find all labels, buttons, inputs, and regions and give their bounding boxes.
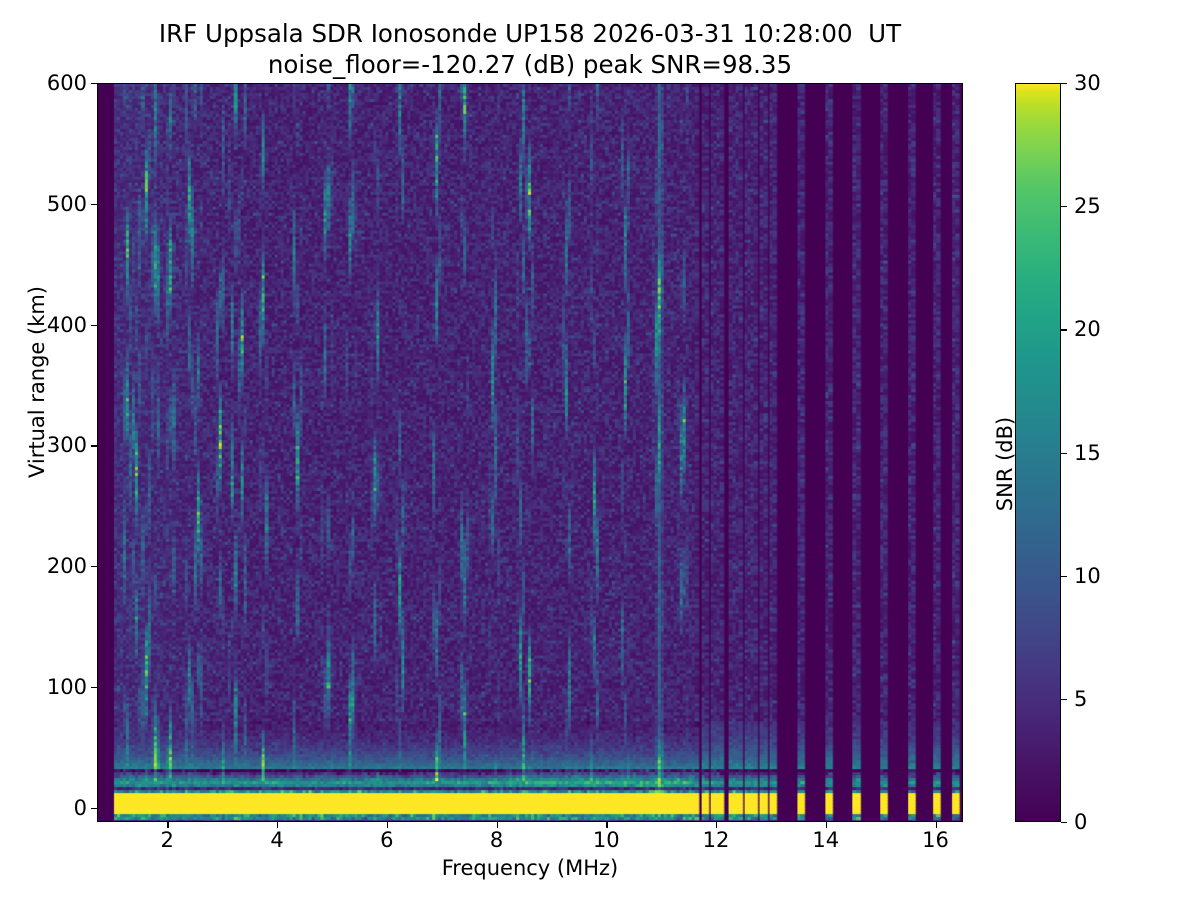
y-tick-mark bbox=[91, 687, 97, 688]
y-tick-label: 600 bbox=[17, 71, 87, 95]
colorbar-tick-label: 5 bbox=[1074, 687, 1087, 711]
y-tick-mark bbox=[91, 566, 97, 567]
y-tick-label: 400 bbox=[17, 313, 87, 337]
colorbar-tick-label: 15 bbox=[1074, 441, 1101, 465]
colorbar-tick-label: 0 bbox=[1074, 810, 1087, 834]
x-tick-label: 10 bbox=[576, 828, 636, 852]
colorbar-label: SNR (dB) bbox=[993, 304, 1017, 624]
colorbar-tick-mark bbox=[1061, 453, 1067, 454]
ionogram-axes[interactable] bbox=[97, 83, 963, 822]
y-tick-mark bbox=[91, 445, 97, 446]
y-tick-mark bbox=[91, 83, 97, 84]
y-tick-mark bbox=[91, 204, 97, 205]
colorbar-tick-mark bbox=[1061, 206, 1067, 207]
y-tick-label: 0 bbox=[17, 796, 87, 820]
ionogram-heatmap[interactable] bbox=[98, 84, 962, 821]
figure-title: IRF Uppsala SDR Ionosonde UP158 2026-03-… bbox=[0, 18, 1060, 81]
colorbar-tick-label: 30 bbox=[1074, 71, 1101, 95]
y-tick-label: 200 bbox=[17, 554, 87, 578]
x-axis-label: Frequency (MHz) bbox=[97, 856, 963, 880]
x-tick-label: 2 bbox=[137, 828, 197, 852]
x-tick-label: 12 bbox=[686, 828, 746, 852]
x-tick-label: 4 bbox=[247, 828, 307, 852]
x-tick-label: 8 bbox=[467, 828, 527, 852]
colorbar-tick-mark bbox=[1061, 329, 1067, 330]
title-line-2: noise_floor=-120.27 (dB) peak SNR=98.35 bbox=[0, 49, 1060, 80]
y-tick-label: 100 bbox=[17, 675, 87, 699]
colorbar-tick-mark bbox=[1061, 576, 1067, 577]
y-tick-mark bbox=[91, 325, 97, 326]
x-tick-label: 6 bbox=[357, 828, 417, 852]
ionogram-figure: IRF Uppsala SDR Ionosonde UP158 2026-03-… bbox=[0, 0, 1200, 900]
x-tick-label: 14 bbox=[796, 828, 856, 852]
colorbar-tick-mark bbox=[1061, 822, 1067, 823]
y-tick-label: 300 bbox=[17, 433, 87, 457]
y-tick-label: 500 bbox=[17, 192, 87, 216]
colorbar-tick-label: 25 bbox=[1074, 194, 1101, 218]
colorbar-tick-label: 20 bbox=[1074, 317, 1101, 341]
colorbar-tick-mark bbox=[1061, 83, 1067, 84]
colorbar-tick-label: 10 bbox=[1074, 564, 1101, 588]
colorbar-tick-mark bbox=[1061, 699, 1067, 700]
x-tick-label: 16 bbox=[906, 828, 966, 852]
colorbar[interactable] bbox=[1015, 83, 1061, 822]
y-tick-mark bbox=[91, 808, 97, 809]
title-line-1: IRF Uppsala SDR Ionosonde UP158 2026-03-… bbox=[0, 18, 1060, 49]
y-axis-label: Virtual range (km) bbox=[25, 102, 49, 662]
